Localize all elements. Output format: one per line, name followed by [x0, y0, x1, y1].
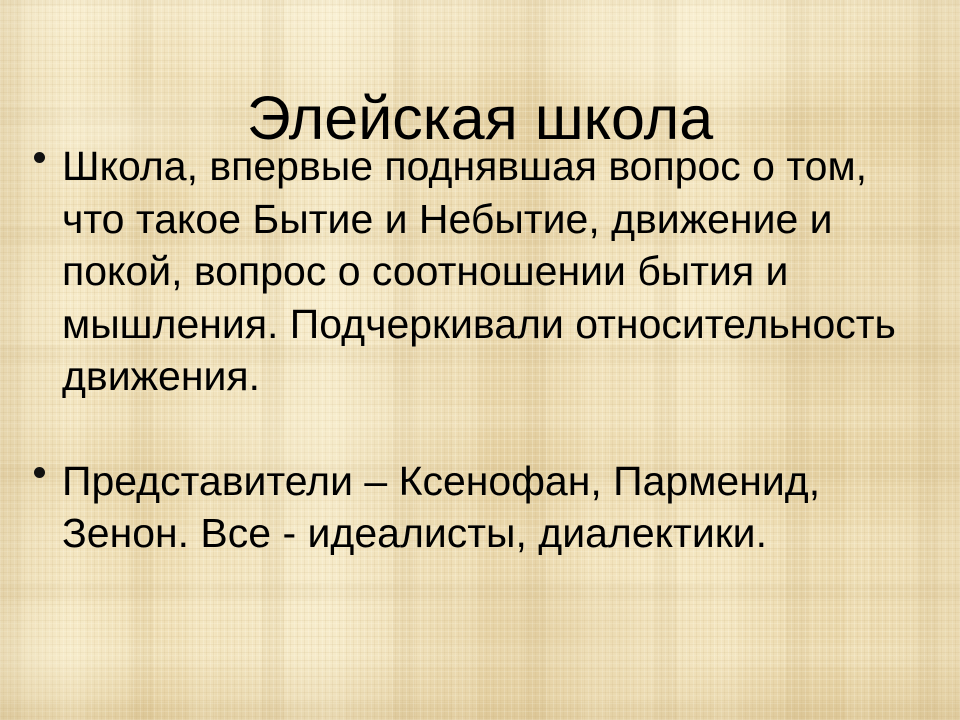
bullet-dot-icon: [34, 152, 45, 163]
presentation-slide: Элейская школа Школа, впервые поднявшая …: [0, 0, 960, 720]
bullet-text: Школа, впервые поднявшая вопрос о том, ч…: [62, 140, 928, 403]
bullet-list-item: Представители – Ксенофан, Парменид, Зено…: [28, 455, 928, 560]
slide-body: Школа, впервые поднявшая вопрос о том, ч…: [28, 140, 928, 560]
bullet-text: Представители – Ксенофан, Парменид, Зено…: [62, 455, 928, 560]
bullet-list-item: Школа, впервые поднявшая вопрос о том, ч…: [28, 140, 928, 403]
bullet-dot-icon: [34, 467, 45, 478]
slide-content: Элейская школа Школа, впервые поднявшая …: [0, 0, 960, 720]
